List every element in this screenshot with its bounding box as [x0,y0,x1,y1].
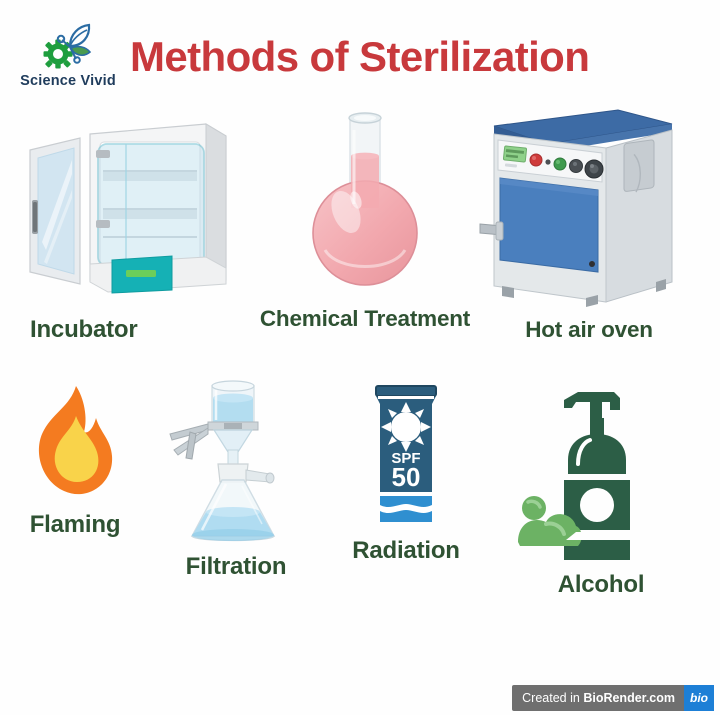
brand-name: Science Vivid [8,73,128,89]
laboratory-incubator-icon [8,112,258,312]
method-card-chemical-treatment: Chemical Treatment [250,100,480,332]
method-card-hot-air-oven: Hot air oven [466,104,712,343]
biorender-logo-icon: bio [684,685,714,711]
method-label-radiation: Radiation [328,537,484,565]
hand-sanitizer-pump-bottle-icon [506,382,696,567]
page-title: Methods of Sterilization [130,36,630,78]
method-card-incubator: Incubator [8,112,258,344]
infographic-canvas: Science Vivid Methods of Sterilization [0,0,720,715]
leaf-gear-logo-icon [36,20,100,72]
method-card-filtration: Filtration [150,372,322,581]
method-label-incubator: Incubator [8,316,258,344]
flame-icon [6,382,144,509]
attribution-text: Created in BioRender.com [522,691,675,705]
biorender-attribution-badge: Created in BioRender.com bio [512,685,714,711]
method-card-radiation: SPF 50 Radiation [328,374,484,565]
spf-value: 50 [392,462,421,492]
filtration-apparatus-icon [150,372,322,553]
method-card-flaming: Flaming [6,382,144,539]
sunscreen-tube-icon: SPF 50 [328,374,484,539]
round-bottom-flask-icon [250,100,480,310]
method-label-hot-air-oven: Hot air oven [466,317,712,343]
method-label-filtration: Filtration [150,553,322,581]
method-card-alcohol: Alcohol [506,382,696,599]
method-label-alcohol: Alcohol [506,571,696,599]
brand-logo: Science Vivid [8,20,128,89]
attribution-brand: BioRender.com [583,691,675,705]
hot-air-oven-icon [466,104,712,319]
attribution-prefix: Created in [522,691,583,705]
method-label-flaming: Flaming [6,511,144,539]
